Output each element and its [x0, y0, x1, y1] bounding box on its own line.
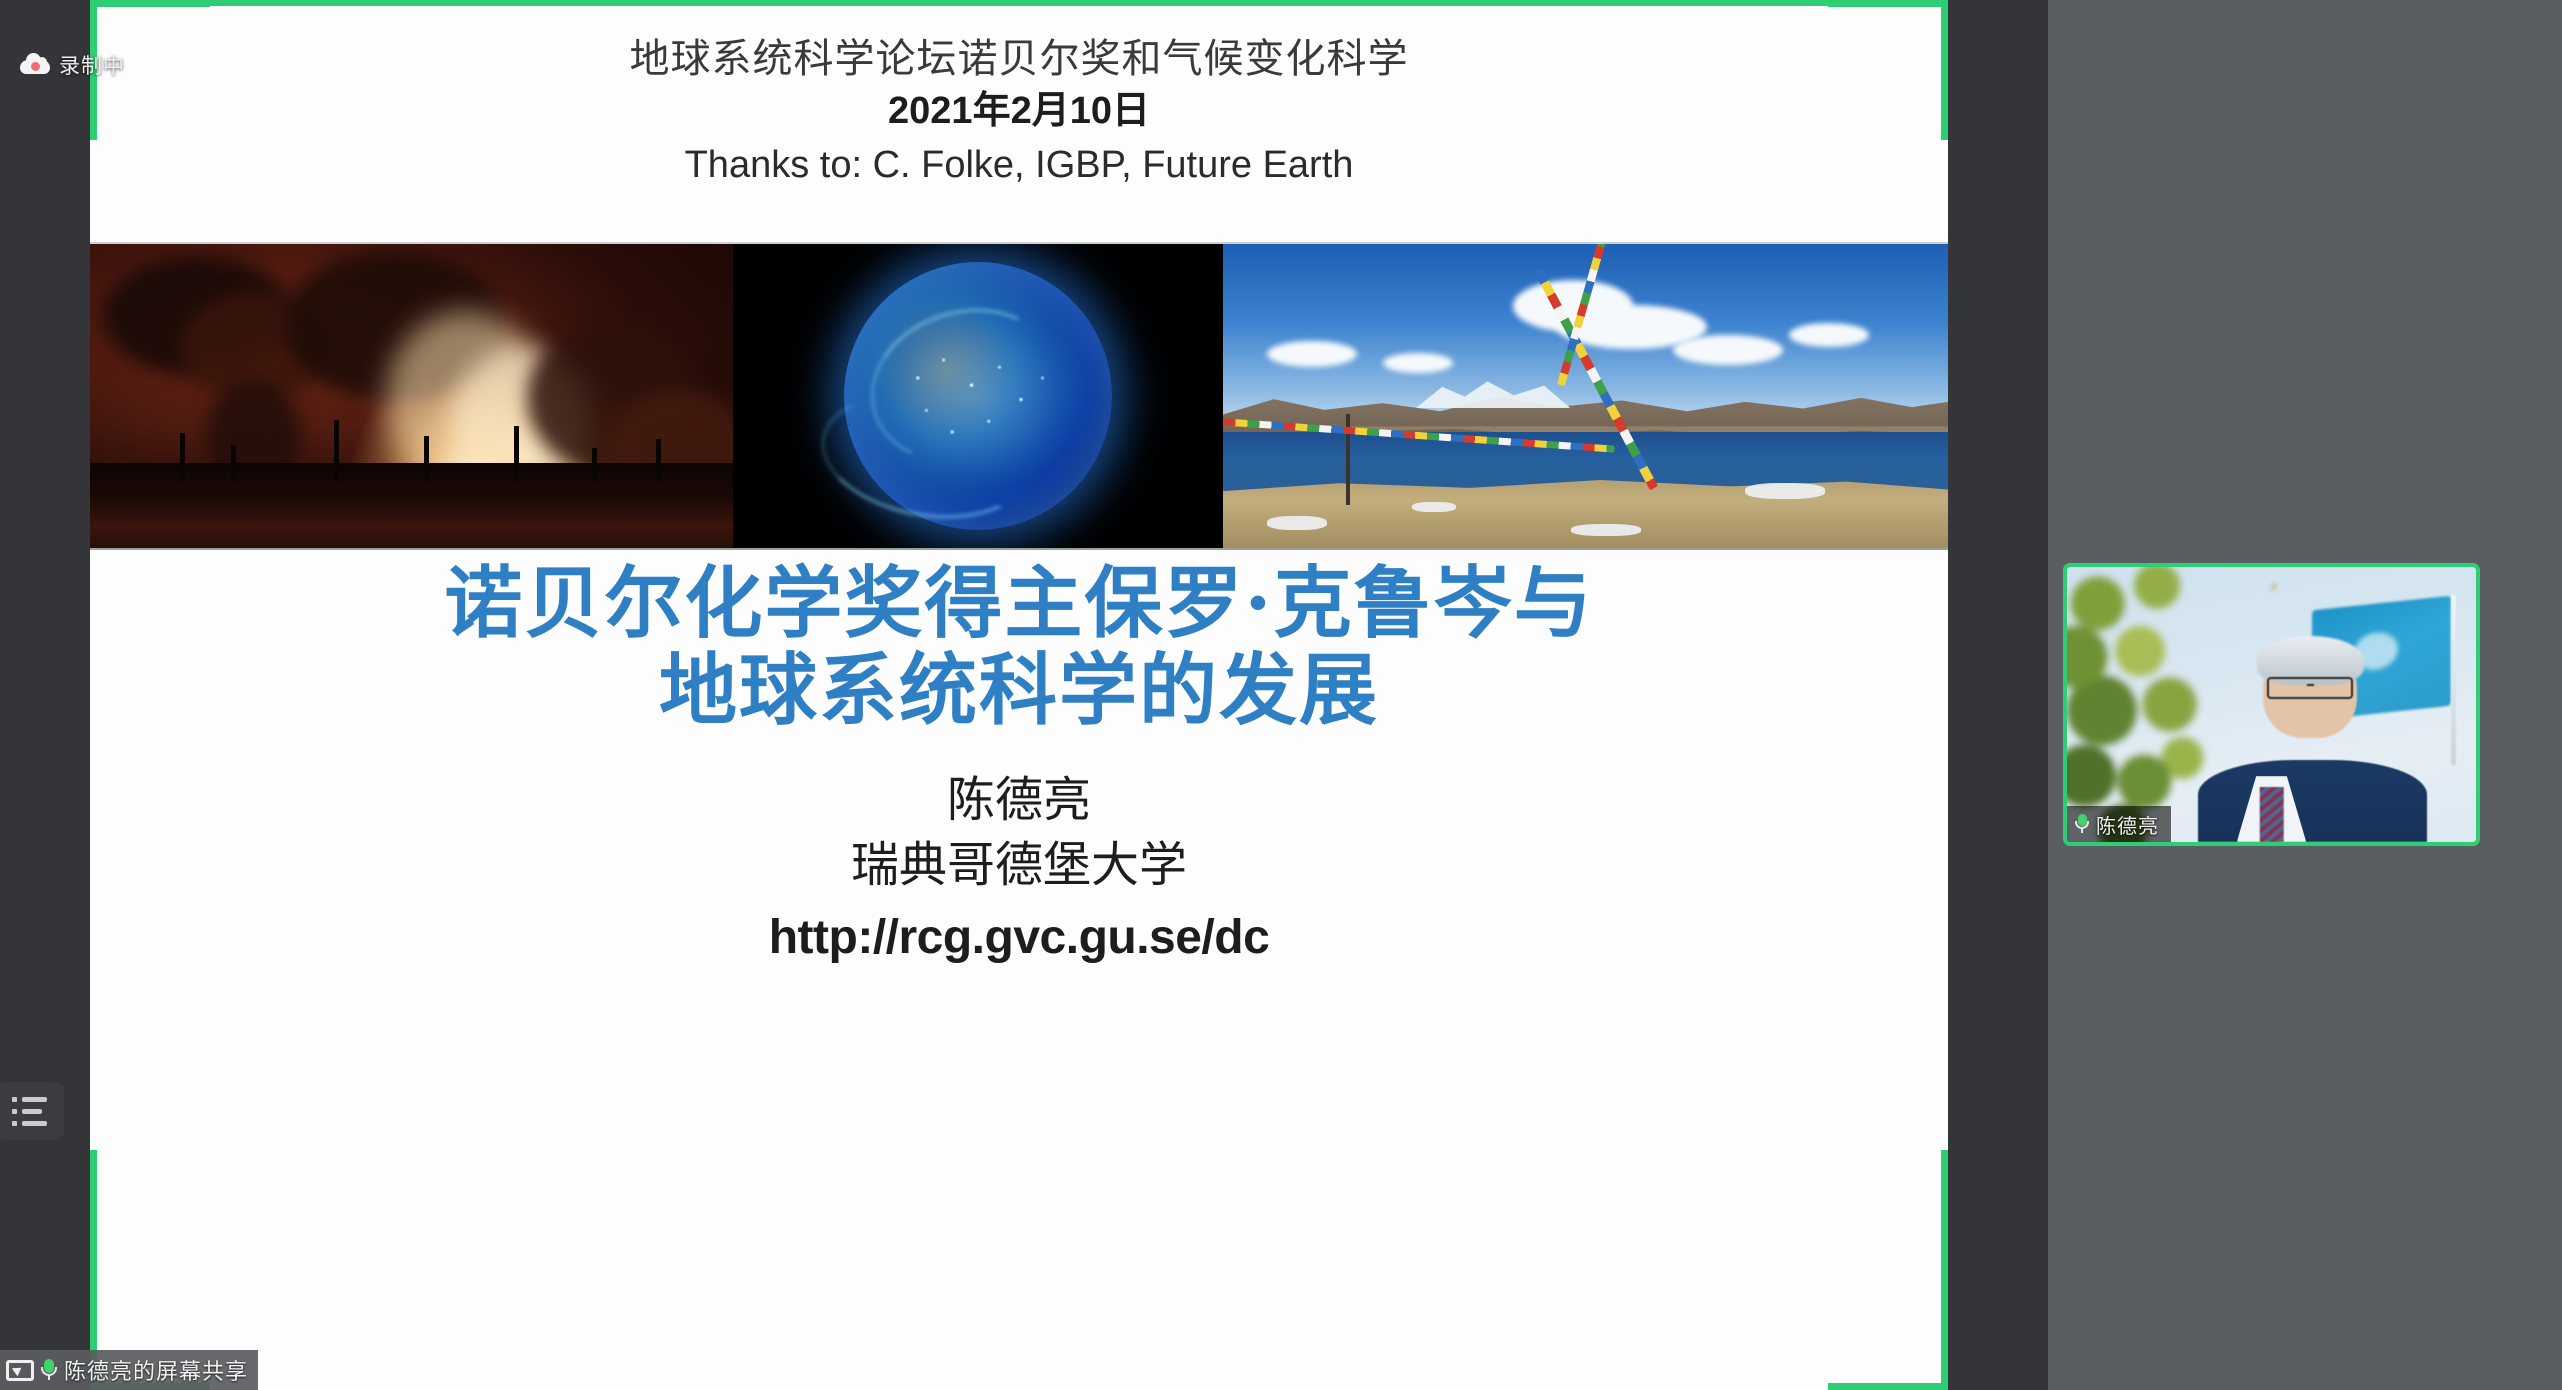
share-bracket-top-left [90, 0, 210, 7]
presentation-slide: 地球系统科学论坛诺贝尔奖和气候变化科学 2021年2月10日 Thanks to… [90, 0, 1948, 1390]
cloud-recording-icon [20, 54, 50, 76]
participant-video-tile[interactable]: 陈德亮 [2063, 563, 2480, 846]
zoom-meeting-window: 地球系统科学论坛诺贝尔奖和气候变化科学 2021年2月10日 Thanks to… [0, 0, 2562, 1390]
microphone-icon [41, 1359, 57, 1381]
recording-indicator[interactable]: 录制中 [20, 50, 125, 80]
presenter-affiliation: 瑞典哥德堡大学 [90, 835, 1948, 896]
screen-share-label: 陈德亮的屏幕共享 [64, 1354, 248, 1386]
slide-header-line2: 2021年2月10日 [90, 87, 1948, 136]
slide-byline: 陈德亮 瑞典哥德堡大学 http://rcg.gvc.gu.se/dc [90, 770, 1948, 969]
tibetan-lake-prayer-flags-photo [1223, 244, 1948, 548]
presenter-name: 陈德亮 [90, 770, 1948, 831]
microphone-icon [2075, 814, 2089, 834]
participant-name-label: 陈德亮 [2096, 810, 2159, 839]
participant-name-badge: 陈德亮 [2067, 806, 2171, 842]
presenter-url: http://rcg.gvc.gu.se/dc [90, 907, 1948, 969]
share-border-top [90, 0, 1948, 6]
screen-share-status-bar: 陈德亮的屏幕共享 [0, 1350, 258, 1390]
recording-label: 录制中 [59, 50, 125, 80]
slide-image-strip [90, 242, 1948, 550]
slide-header-line3: Thanks to: C. Folke, IGBP, Future Earth [90, 141, 1948, 190]
share-bracket-right-top [1941, 0, 1948, 140]
share-bracket-bottom-right [1828, 1383, 1948, 1390]
share-bracket-top-right [1828, 0, 1948, 7]
participant-video-feed [2067, 567, 2476, 842]
slide-title-line2: 地球系统科学的发展 [90, 647, 1948, 734]
participants-list-button[interactable] [0, 1082, 64, 1140]
shared-screen-frame[interactable]: 地球系统科学论坛诺贝尔奖和气候变化科学 2021年2月10日 Thanks to… [90, 0, 1948, 1390]
slide-title: 诺贝尔化学奖得主保罗·克鲁岑与 地球系统科学的发展 [90, 560, 1948, 735]
blue-globe-network-photo [733, 244, 1223, 548]
screen-share-icon [6, 1360, 34, 1381]
slide-title-line1: 诺贝尔化学奖得主保罗·克鲁岑与 [90, 560, 1948, 647]
list-icon [12, 1097, 48, 1126]
slide-header-line1: 地球系统科学论坛诺贝尔奖和气候变化科学 [90, 34, 1948, 85]
industrial-flaring-photo [90, 244, 733, 548]
share-bracket-right-bottom [1941, 1150, 1948, 1390]
slide-header: 地球系统科学论坛诺贝尔奖和气候变化科学 2021年2月10日 Thanks to… [90, 34, 1948, 190]
